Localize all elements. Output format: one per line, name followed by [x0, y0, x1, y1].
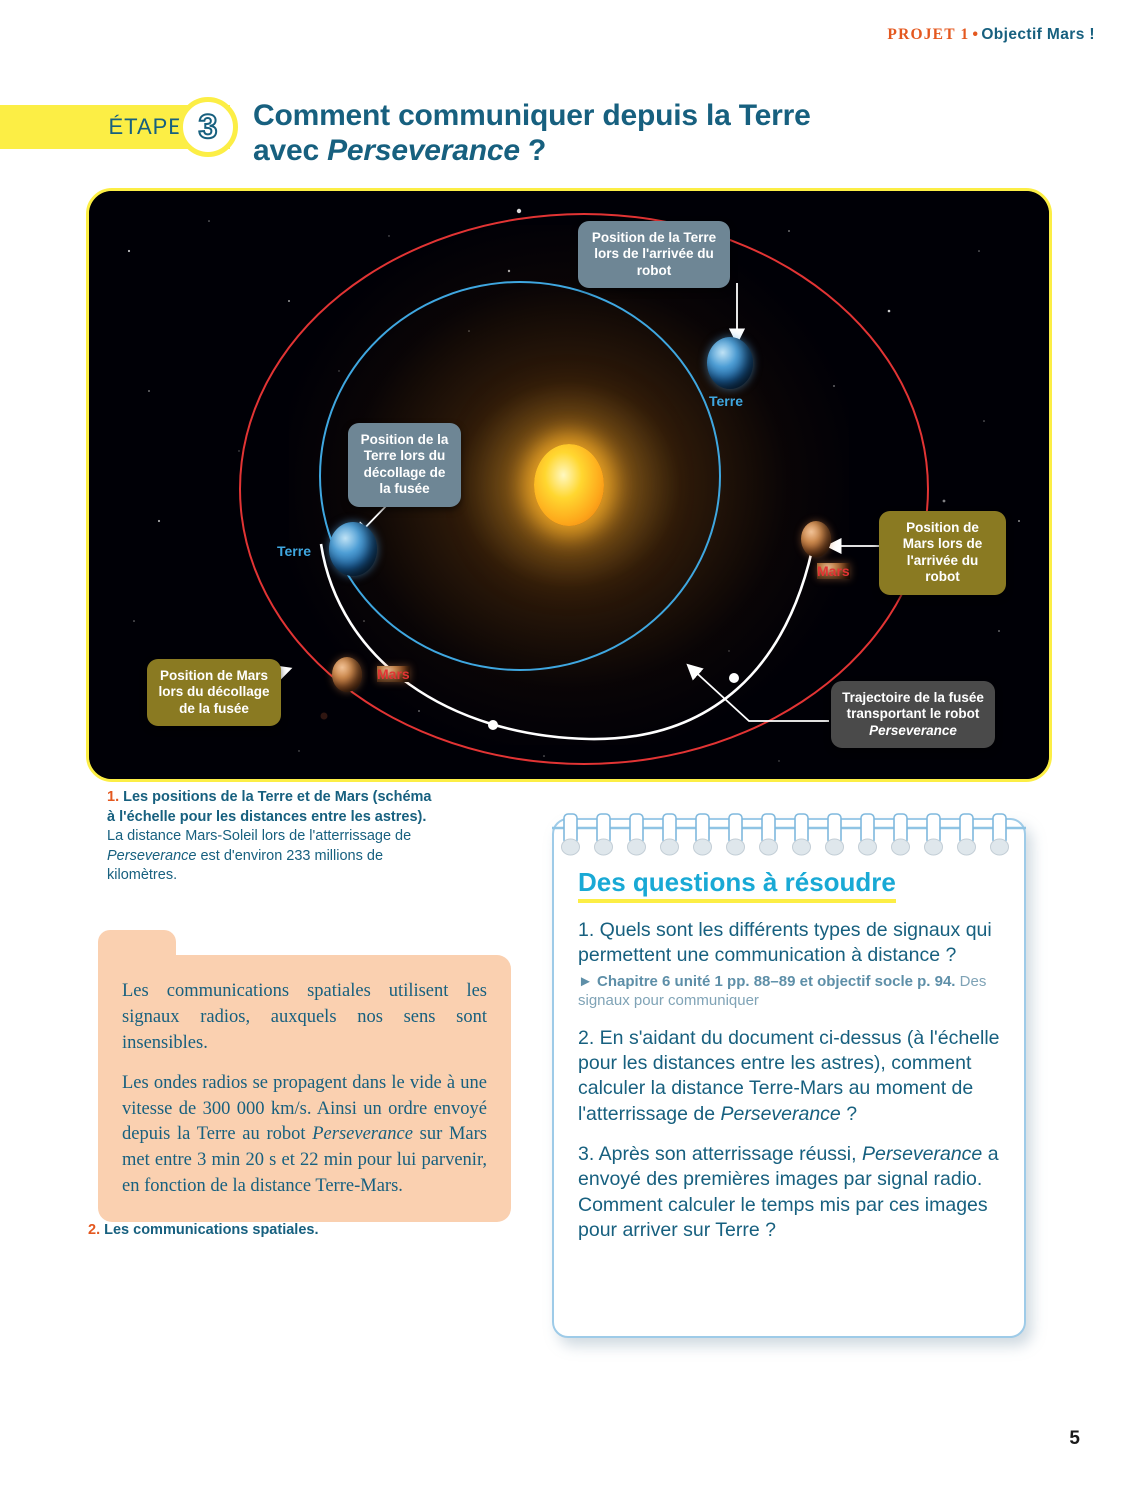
caption-2-text: Les communications spatiales. — [104, 1222, 318, 1238]
page-title-line1: Comment communiquer depuis la Terre — [253, 99, 811, 132]
caption-2-number: 2. — [88, 1222, 100, 1238]
caption-1-number: 1. — [107, 789, 119, 805]
page-title-robot-name: Perseverance — [327, 134, 520, 167]
page-title-line2-suffix: ? — [520, 134, 546, 167]
step-label: ÉTAPE — [108, 114, 184, 140]
step-number-badge: 3 — [178, 97, 238, 157]
earth-launch-label: Terre — [277, 543, 311, 559]
question-2: 2. En s'aidant du document ci-dessus (à … — [578, 1026, 1002, 1127]
page-number: 5 — [1069, 1428, 1080, 1450]
question-3-robot-name: Perseverance — [862, 1143, 982, 1165]
callout-trajectory[interactable]: Trajectoire de la fusée transportant le … — [831, 681, 995, 748]
notepad-spiral-binding — [552, 808, 1026, 870]
earth-launch-planet — [329, 522, 377, 576]
mars-launch-label: Mars — [377, 666, 410, 682]
mars-arrival-label: Mars — [817, 563, 850, 579]
earth-arrival-planet — [707, 337, 753, 389]
question-1-crossref-bold: Chapitre 6 unité 1 pp. 88–89 et objectif… — [597, 973, 955, 990]
callout-trajectory-line1: Trajectoire de la fusée — [842, 690, 984, 705]
question-3-part1: 3. Après son atterrissage réussi, — [578, 1143, 862, 1165]
info-box-notch — [98, 930, 176, 957]
solar-system-diagram: Terre Terre Mars Mars Position de la Ter… — [86, 188, 1052, 782]
caption-1-robot-name: Perseverance — [107, 848, 196, 864]
question-3: 3. Après son atterrissage réussi, Persev… — [578, 1142, 1002, 1243]
info-box: Les communications spatiales utilisent l… — [98, 955, 511, 1222]
questions-content: Des questions à résoudre 1. Quels sont l… — [578, 868, 1002, 1243]
step-number: 3 — [183, 102, 233, 152]
caption-1-text-before: La distance Mars-Soleil lors de l'atterr… — [107, 828, 411, 844]
info-box-robot-name: Perseverance — [312, 1124, 413, 1144]
callout-mars-launch[interactable]: Position de Mars lors du décollage de la… — [147, 659, 281, 726]
triangle-right-icon: ► — [578, 973, 593, 990]
caption-1-bold: Les positions de la Terre et de Mars (sc… — [107, 789, 432, 825]
figure-caption-2: 2. Les communications spatiales. — [88, 1222, 318, 1238]
callout-earth-launch[interactable]: Position de la Terre lors du décollage d… — [348, 423, 461, 507]
question-2-robot-name: Perseverance — [720, 1103, 840, 1125]
info-box-paragraph-2: Les ondes radios se propagent dans le vi… — [122, 1071, 487, 1200]
page-title: Comment communiquer depuis la Terre avec… — [253, 98, 913, 169]
running-head: PROJET 1•Objectif Mars ! — [887, 26, 1095, 44]
mars-arrival-planet — [801, 521, 831, 557]
figure-caption-1: 1. Les positions de la Terre et de Mars … — [107, 788, 437, 886]
running-head-project: PROJET 1 — [887, 26, 969, 43]
question-1: 1. Quels sont les différents types de si… — [578, 918, 1002, 969]
running-head-bullet: • — [973, 26, 979, 43]
question-2-part2: ? — [841, 1103, 857, 1125]
question-1-crossref[interactable]: ► Chapitre 6 unité 1 pp. 88–89 et object… — [578, 972, 1002, 1010]
info-box-paragraph-1: Les communications spatiales utilisent l… — [122, 979, 487, 1057]
mars-launch-planet — [332, 657, 362, 692]
running-head-objective: Objectif Mars ! — [981, 26, 1095, 43]
callout-earth-arrival[interactable]: Position de la Terre lors de l'arrivée d… — [578, 221, 730, 288]
callout-trajectory-robot-name: Perseverance — [869, 723, 957, 738]
page-title-line2-prefix: avec — [253, 134, 327, 167]
callout-mars-arrival[interactable]: Position de Mars lors de l'arrivée du ro… — [879, 511, 1006, 595]
callout-trajectory-line2: transportant le robot — [847, 706, 980, 721]
earth-arrival-label: Terre — [709, 393, 743, 409]
questions-title: Des questions à résoudre — [578, 868, 896, 903]
